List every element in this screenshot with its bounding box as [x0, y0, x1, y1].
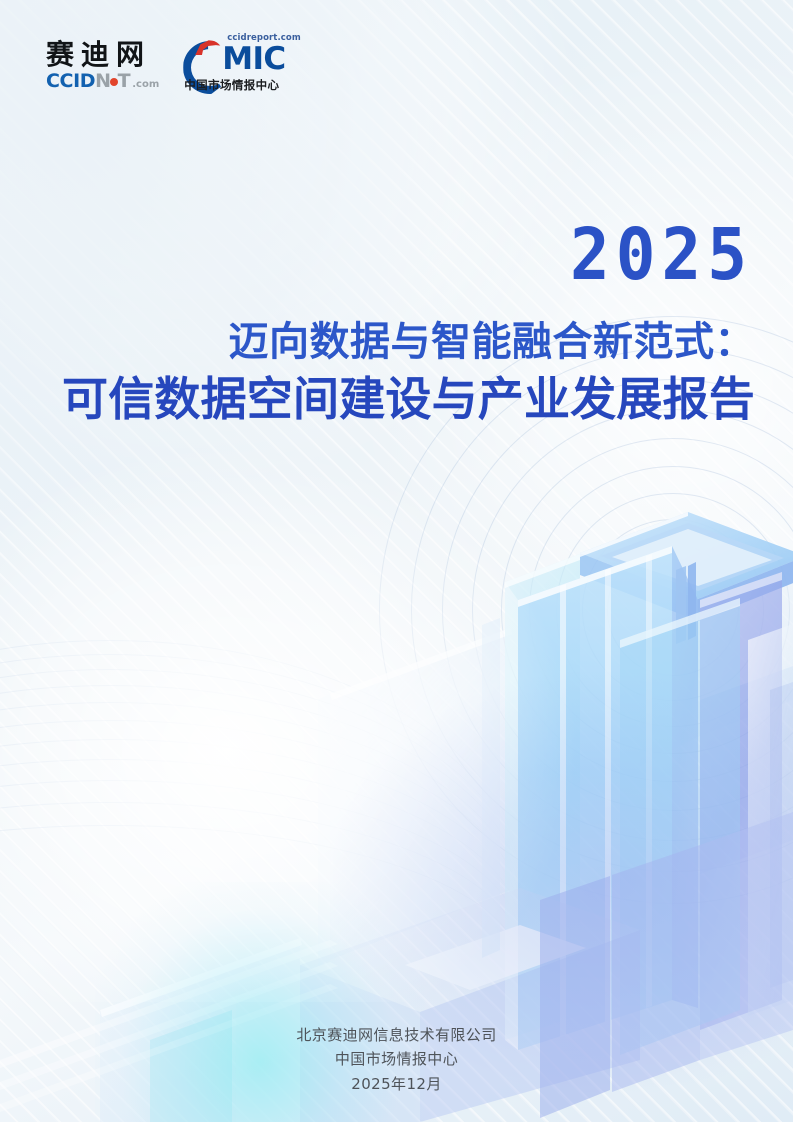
footer-date: 2025年12月: [0, 1072, 793, 1096]
ccidnet-logo-red-dot: [110, 78, 118, 86]
ccidnet-logo-en-text: CCIDNT.com: [46, 72, 159, 91]
diagonal-stripes-highlight: [0, 0, 793, 1122]
cmic-logo[interactable]: ccidreport.com MIC 中国市场情报中心: [183, 33, 299, 91]
cmic-logo-wordmark: MIC: [183, 41, 285, 78]
background-decoration: [0, 0, 793, 1122]
ccidnet-logo-n: N: [95, 72, 111, 91]
footer-publisher: 北京赛迪网信息技术有限公司: [0, 1023, 793, 1047]
ccidnet-logo-t: T: [118, 72, 131, 91]
cover-title-line-2: 可信数据空间建设与产业发展报告: [0, 372, 755, 426]
cmic-c-mark-icon: [183, 41, 221, 78]
cmic-logo-mic: MIC: [222, 44, 285, 75]
ccidnet-logo-ccid: CCID: [46, 72, 95, 91]
isometric-city-illustration: [0, 0, 793, 1122]
cover-title-line-1: 迈向数据与智能融合新范式：: [0, 319, 755, 366]
report-cover-page: 赛迪网 CCIDNT.com ccidreport.com MIC 中国市场情报…: [0, 0, 793, 1122]
ccidnet-logo-cn-text: 赛迪网: [46, 41, 151, 70]
ccidnet-logo[interactable]: 赛迪网 CCIDNT.com: [46, 41, 159, 91]
cover-title-block: 2025 迈向数据与智能融合新范式： 可信数据空间建设与产业发展报告: [0, 225, 755, 426]
cmic-logo-cn-text: 中国市场情报中心: [184, 77, 279, 93]
ccidnet-logo-domain: .com: [132, 80, 159, 90]
light-wash-bottom-left: [0, 442, 580, 1002]
footer-department: 中国市场情报中心: [0, 1047, 793, 1071]
cover-year: 2025: [0, 220, 755, 291]
header-logos: 赛迪网 CCIDNT.com ccidreport.com MIC 中国市场情报…: [46, 33, 299, 91]
cover-footer: 北京赛迪网信息技术有限公司 中国市场情报中心 2025年12月: [0, 1023, 793, 1096]
diagonal-stripes-pattern: [0, 0, 793, 1122]
